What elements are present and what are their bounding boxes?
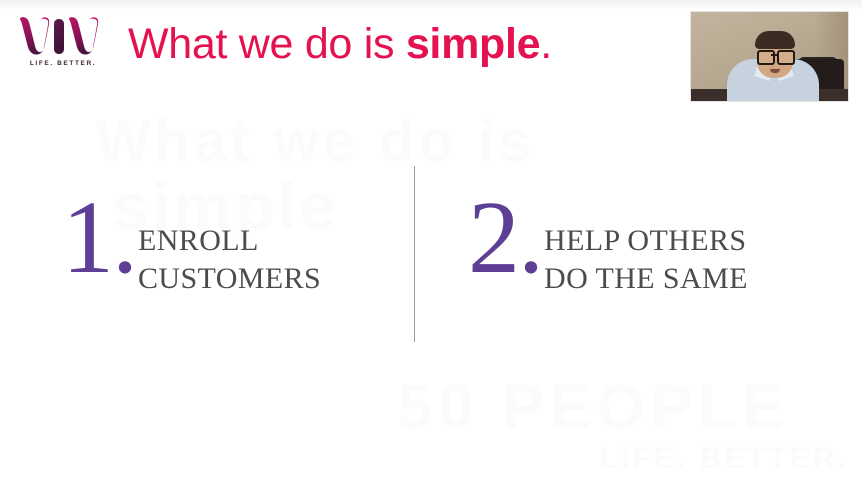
step-number-2: 2. [468, 194, 542, 282]
ghost-artifact-lower: 50 PEOPLE [398, 372, 790, 443]
video-presenter-glasses-bridge [771, 54, 777, 56]
slide-headline: What we do is simple. [128, 18, 552, 70]
step-label-1-line1: ENROLL [138, 222, 321, 260]
viv-logo-tagline: LIFE. BETTER. [22, 60, 104, 67]
video-presenter-glasses-left [757, 50, 775, 65]
viv-logo-mark [18, 16, 100, 56]
video-presenter-hair [755, 31, 795, 49]
headline-plain: What we do is [128, 20, 406, 68]
presentation-slide: What we do is simple 50 PEOPLE LIFE. BET… [0, 0, 862, 485]
step-label-1-line2: CUSTOMERS [138, 260, 321, 298]
step-item-1: 1. ENROLL CUSTOMERS [62, 200, 321, 298]
headline-period: . [540, 20, 552, 68]
step-number-1: 1. [62, 194, 136, 282]
step-label-2-line2: DO THE SAME [544, 260, 748, 298]
video-presenter-glasses-right [777, 50, 795, 65]
ghost-artifact-headline: What we do is [96, 108, 535, 175]
presenter-video-feed[interactable] [690, 11, 849, 102]
viv-logo: LIFE. BETTER. [18, 16, 110, 74]
step-label-2-line1: HELP OTHERS [544, 222, 748, 260]
column-divider [414, 166, 415, 342]
ghost-artifact-footer: LIFE. BETTER. [600, 442, 849, 476]
step-label-1: ENROLL CUSTOMERS [138, 222, 321, 298]
step-item-2: 2. HELP OTHERS DO THE SAME [468, 200, 748, 298]
step-label-2: HELP OTHERS DO THE SAME [544, 222, 748, 298]
headline-emphasis: simple [406, 20, 540, 68]
top-chrome-band [0, 0, 862, 9]
